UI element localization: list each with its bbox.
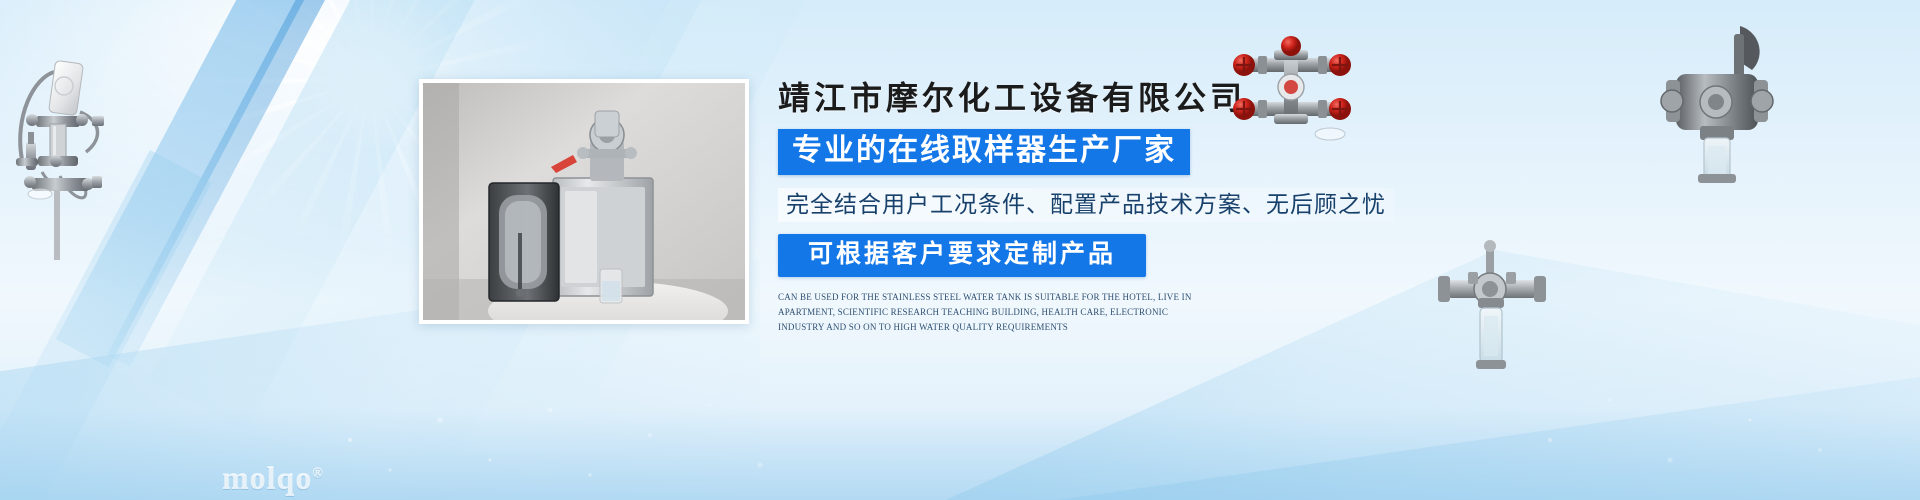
bottom-right-equipment-image — [1432, 240, 1552, 385]
water-droplets-decoration-right — [1520, 370, 1880, 490]
product-photo-card — [419, 79, 749, 324]
watermark-text: molqo — [222, 460, 312, 496]
registered-mark-icon: ® — [312, 466, 323, 481]
headline-badge: 专业的在线取样器生产厂家 — [778, 129, 1190, 175]
top-right-equipment-image — [1214, 30, 1384, 145]
left-equipment-image — [8, 20, 188, 310]
right-valve-image — [1648, 22, 1788, 197]
inline-sampler-valve-icon — [1432, 240, 1552, 385]
custom-product-cta[interactable]: 可根据客户要求定制产品 — [778, 234, 1146, 277]
product-photo — [423, 83, 745, 320]
sampler-cabinet-photo-icon — [423, 83, 749, 324]
water-droplets-decoration — [330, 380, 810, 500]
watermark-logo: molqo® — [222, 462, 324, 494]
sampling-device-icon — [8, 20, 188, 310]
flanged-control-valve-icon — [1648, 22, 1788, 197]
christmas-tree-valve-icon — [1214, 30, 1384, 145]
promo-banner: 靖江市摩尔化工设备有限公司 专业的在线取样器生产厂家 完全结合用户工况条件、配置… — [0, 0, 1920, 500]
english-description: CAN BE USED FOR THE STAINLESS STEEL WATE… — [778, 290, 1193, 335]
subline-text: 完全结合用户工况条件、配置产品技术方案、无后顾之忧 — [778, 188, 1394, 223]
